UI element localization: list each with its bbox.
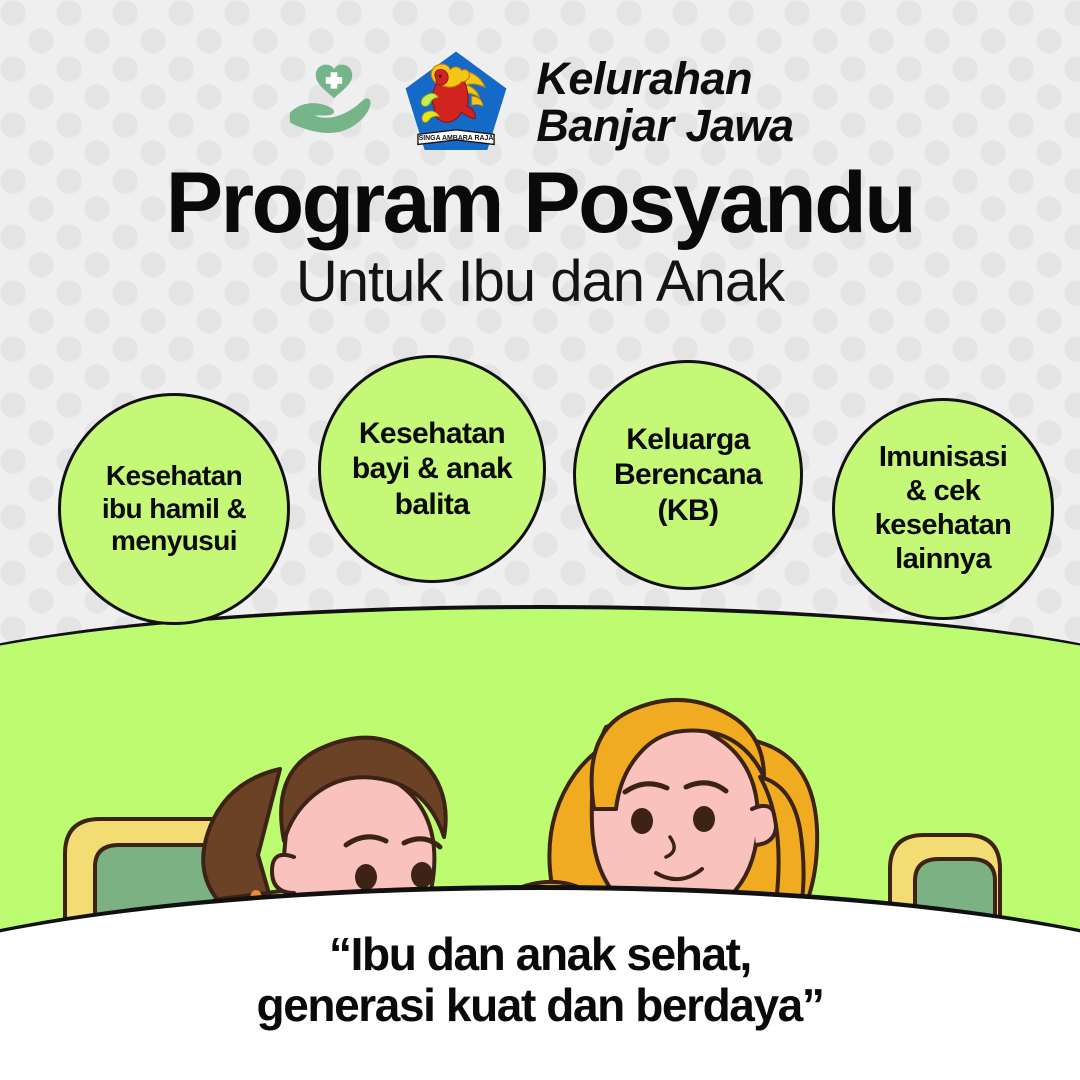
service-circle-family-planning[interactable]: Keluarga Berencana (KB): [573, 360, 803, 590]
page-subtitle: Untuk Ibu dan Anak: [0, 253, 1080, 311]
service-circle-immunization[interactable]: Imunisasi & cek kesehatan lainnya: [832, 398, 1054, 620]
singa-ambara-raja-crest-icon: SINGA AMBARA RAJA: [400, 47, 512, 159]
service-label: Imunisasi & cek kesehatan lainnya: [875, 441, 1011, 577]
organization-name: Kelurahan Banjar Jawa: [536, 56, 793, 150]
page-title: Program Posyandu: [0, 160, 1080, 246]
service-label: Kesehatan ibu hamil & menyusui: [102, 460, 246, 558]
brand-header: SINGA AMBARA RAJA Kelurahan Banjar Jawa: [0, 48, 1080, 158]
service-circle-maternal-health[interactable]: Kesehatan ibu hamil & menyusui: [58, 393, 290, 625]
poster-canvas: SINGA AMBARA RAJA Kelurahan Banjar Jawa …: [0, 0, 1080, 1080]
service-circle-infant-toddler-health[interactable]: Kesehatan bayi & anak balita: [318, 355, 546, 583]
service-label: Keluarga Berencana (KB): [614, 422, 762, 527]
crest-banner-text: SINGA AMBARA RAJA: [419, 135, 494, 142]
hand-holding-heart-icon: [286, 55, 382, 151]
tagline-text: “Ibu dan anak sehat, generasi kuat dan b…: [0, 929, 1080, 1032]
service-label: Kesehatan bayi & anak balita: [352, 416, 512, 521]
